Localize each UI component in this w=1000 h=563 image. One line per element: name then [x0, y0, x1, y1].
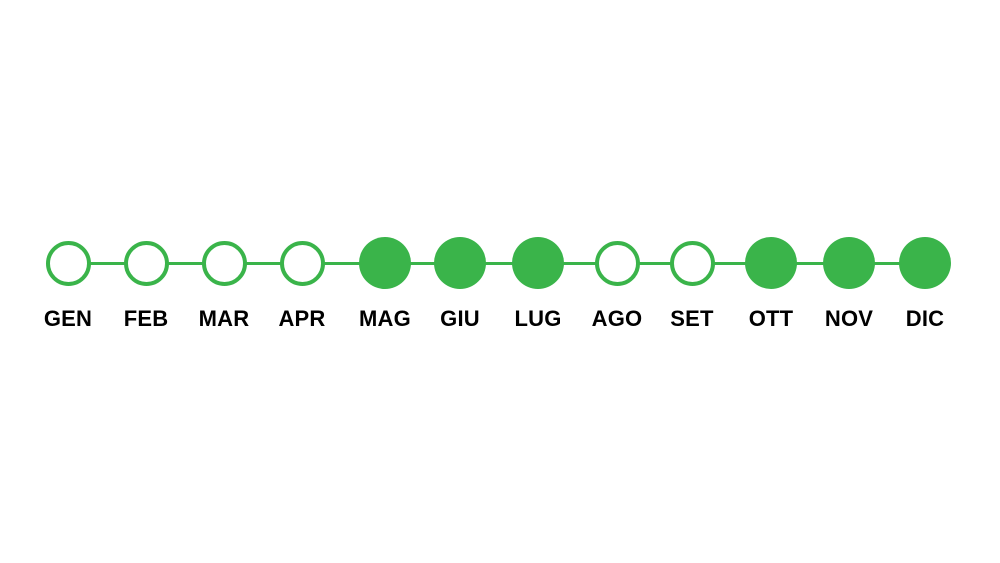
timeline-node-feb[interactable] [124, 241, 169, 286]
timeline-node-ago[interactable] [595, 241, 640, 286]
timeline-connector [563, 262, 596, 265]
timeline-node-nov[interactable] [823, 237, 875, 289]
timeline-node-gen[interactable] [46, 241, 91, 286]
timeline-connector [410, 262, 435, 265]
timeline-connector [485, 262, 513, 265]
timeline-connector [246, 262, 281, 265]
timeline-label-dic: DIC [865, 308, 985, 330]
timeline-node-apr[interactable] [280, 241, 325, 286]
timeline-node-set[interactable] [670, 241, 715, 286]
timeline-connector [90, 262, 125, 265]
timeline-node-mag[interactable] [359, 237, 411, 289]
timeline-node-lug[interactable] [512, 237, 564, 289]
timeline-connector [639, 262, 671, 265]
timeline-connector [168, 262, 203, 265]
timeline-node-mar[interactable] [202, 241, 247, 286]
timeline-node-ott[interactable] [745, 237, 797, 289]
timeline-connector [874, 262, 900, 265]
month-timeline: GENFEBMARAPRMAGGIULUGAGOSETOTTNOVDIC [0, 0, 1000, 563]
timeline-node-dic[interactable] [899, 237, 951, 289]
canvas: GENFEBMARAPRMAGGIULUGAGOSETOTTNOVDIC [0, 0, 1000, 563]
timeline-node-giu[interactable] [434, 237, 486, 289]
timeline-connector [796, 262, 824, 265]
timeline-connector [714, 262, 747, 265]
timeline-connector [324, 262, 361, 265]
